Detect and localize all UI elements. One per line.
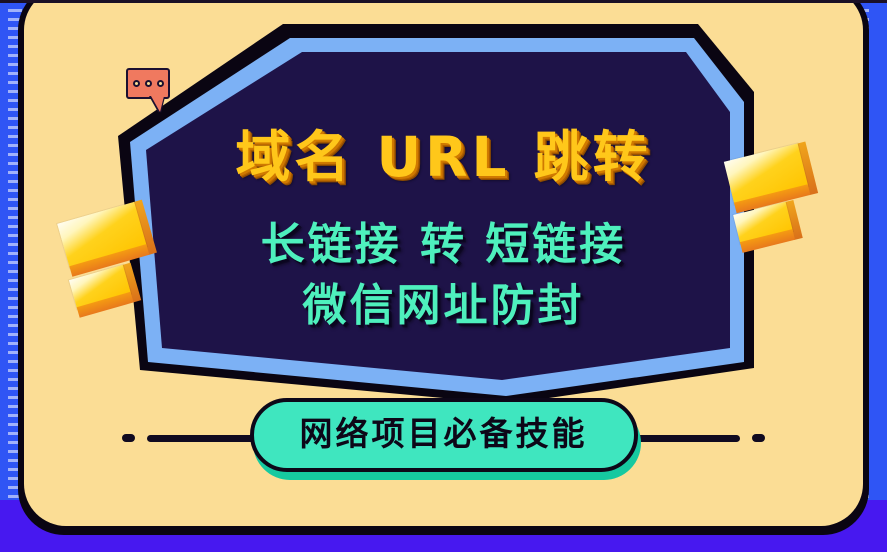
badge-pill-wrapper: 网络项目必备技能 <box>250 398 638 472</box>
rule-dot <box>122 434 135 442</box>
bubble-dot <box>145 80 152 87</box>
bubble-dot <box>157 80 164 87</box>
poster-canvas: 域名 URL 跳转 长链接 转 短链接 微信网址防封 网络项目必备技能 <box>0 0 887 552</box>
plate-navy-layer <box>146 52 730 380</box>
status-badge: 网络项目必备技能 <box>250 398 638 472</box>
bubble-dot <box>133 80 140 87</box>
speech-bubble-icon <box>126 68 170 99</box>
plate-shape <box>78 18 758 433</box>
top-hairline <box>0 0 887 3</box>
bubble-tail <box>151 96 164 112</box>
central-polygon-plate <box>78 18 758 433</box>
rule-dot <box>752 434 765 442</box>
